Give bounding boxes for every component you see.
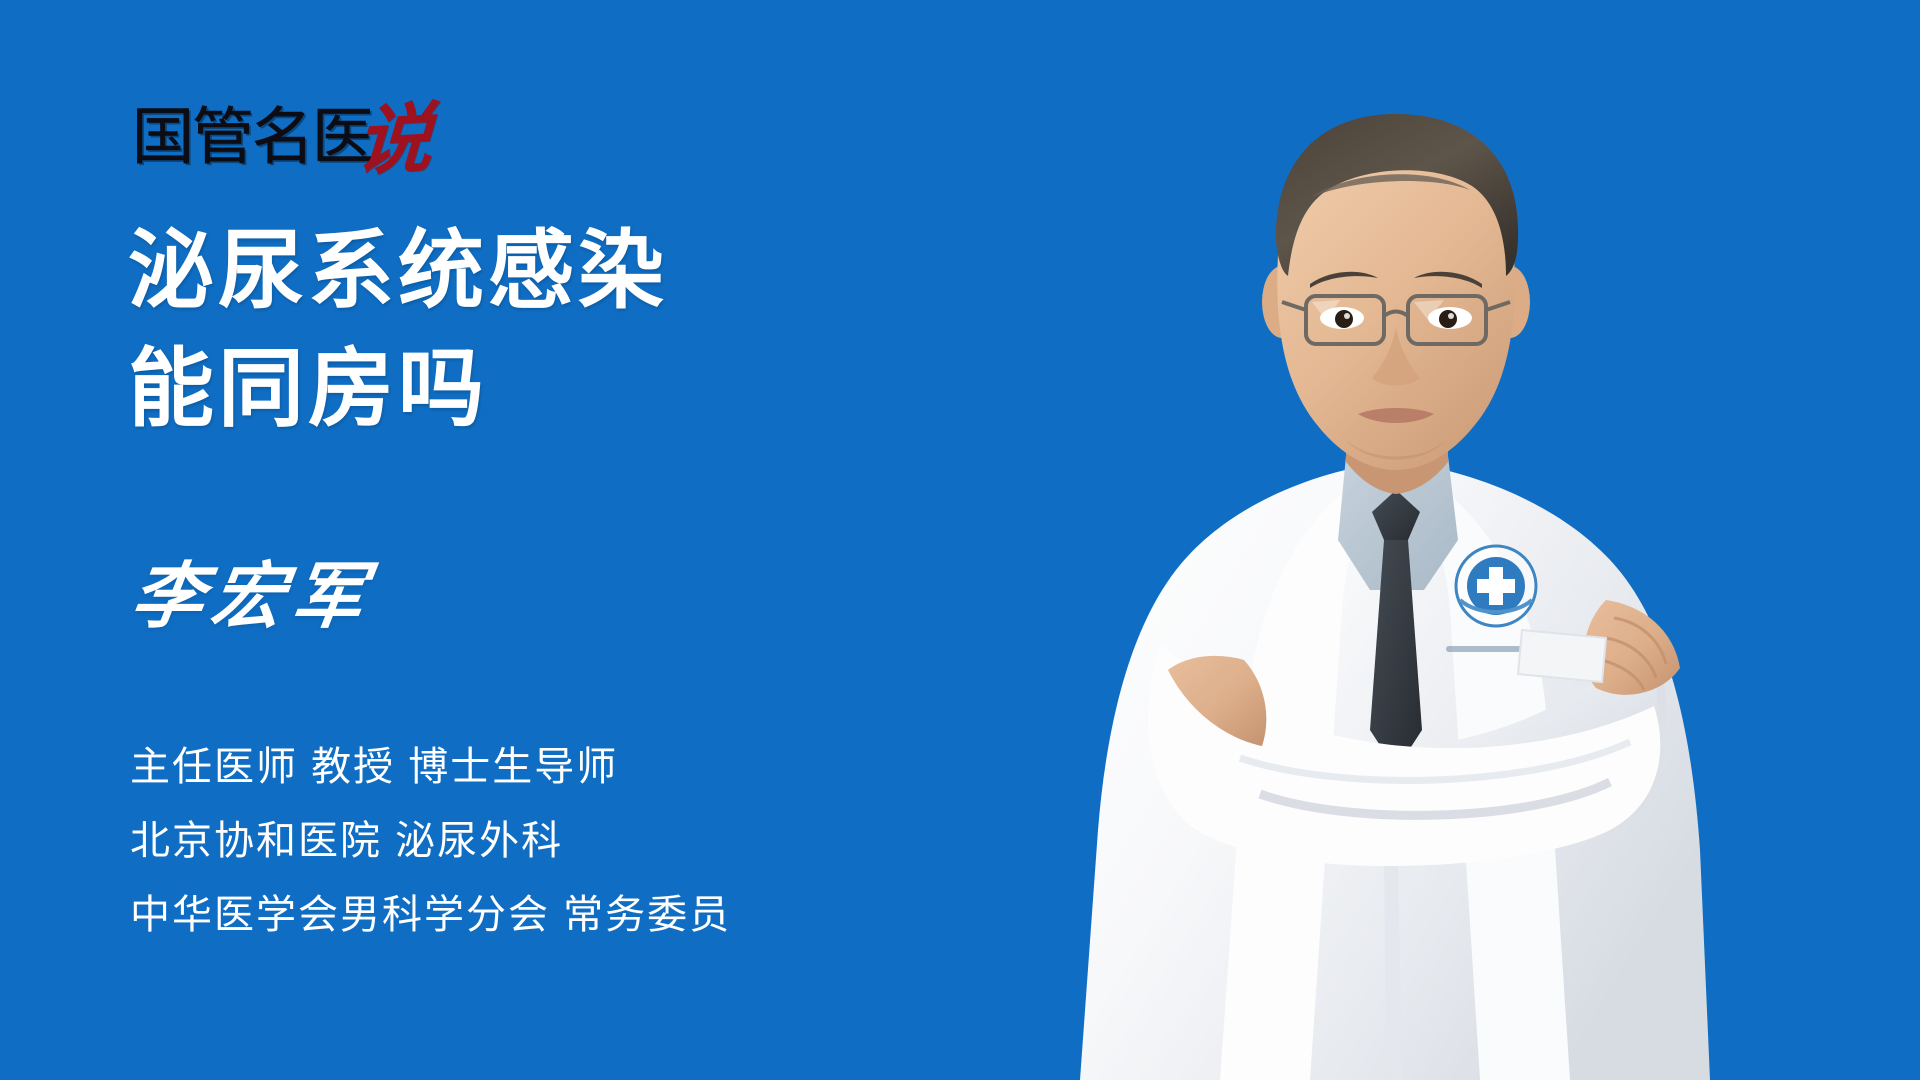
credential-line-title: 主任医师 教授 博士生导师 [130, 730, 731, 804]
program-logo: 国管名医 说 [132, 88, 432, 168]
doctor-credentials: 主任医师 教授 博士生导师 北京协和医院 泌尿外科 中华医学会男科学分会 常务委… [130, 730, 731, 952]
doctor-name: 李宏军 [127, 560, 377, 632]
coat-pocket [1518, 630, 1606, 682]
program-logo-main-text: 国管名医 [132, 106, 372, 168]
page-title-line-1: 泌尿系统感染 [128, 212, 668, 330]
program-logo-accent-text: 说 [354, 102, 434, 178]
poster-canvas: 国管名医 说 泌尿系统感染 能同房吗 李宏军 主任医师 教授 博士生导师 北京协… [0, 0, 1920, 1080]
page-title: 泌尿系统感染 能同房吗 [128, 212, 668, 448]
doctor-portrait-image [1010, 70, 1770, 1080]
text-column: 国管名医 说 泌尿系统感染 能同房吗 李宏军 主任医师 教授 博士生导师 北京协… [0, 0, 980, 1080]
credential-line-society: 中华医学会男科学分会 常务委员 [130, 878, 731, 952]
credential-line-affiliation: 北京协和医院 泌尿外科 [130, 804, 731, 878]
hospital-emblem-icon [1454, 544, 1538, 628]
page-title-line-2: 能同房吗 [128, 330, 668, 448]
